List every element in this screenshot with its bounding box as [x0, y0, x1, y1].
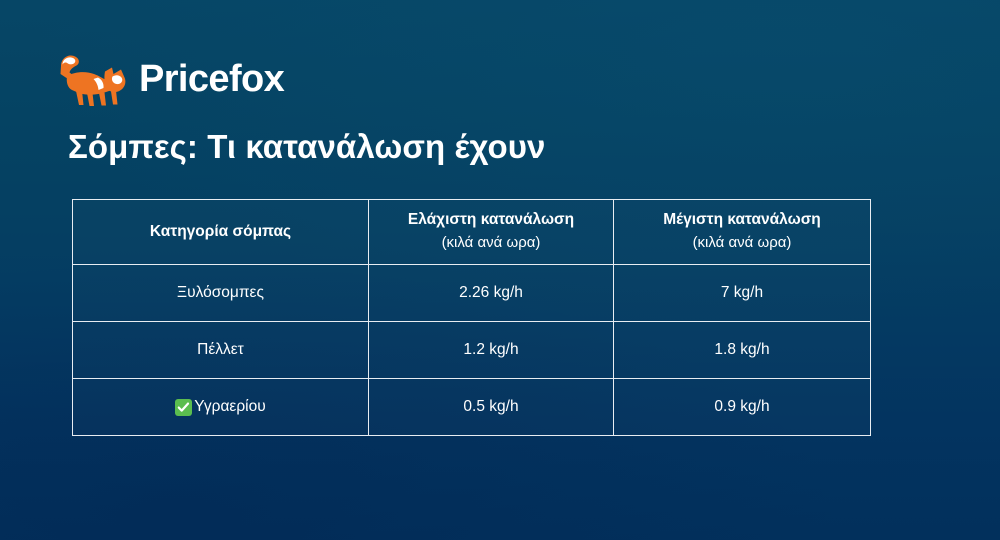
column-header-min-label: Ελάχιστη κατανάλωση	[408, 211, 574, 228]
cell-category-label: Πέλλετ	[197, 341, 244, 359]
table-row: Πέλλετ 1.2 kg/h 1.8 kg/h	[73, 322, 871, 379]
cell-max-consumption: 7 kg/h	[614, 265, 871, 322]
cell-min-consumption: 2.26 kg/h	[369, 265, 614, 322]
table-header-row: Κατηγορία σόμπας Ελάχιστη κατανάλωση (κι…	[73, 200, 871, 265]
column-header-max-label: Μέγιστη κατανάλωση	[663, 211, 821, 228]
table-row: Ξυλόσομπες 2.26 kg/h 7 kg/h	[73, 265, 871, 322]
page-title: Σόμπες: Τι κατανάλωση έχουν	[68, 128, 545, 166]
column-header-category: Κατηγορία σόμπας	[73, 200, 369, 265]
cell-max-consumption: 0.9 kg/h	[614, 379, 871, 436]
cell-min-consumption: 1.2 kg/h	[369, 322, 614, 379]
brand-wordmark: Pricefox	[139, 60, 284, 101]
cell-category-label: Ξυλόσομπες	[177, 284, 264, 302]
column-header-category-label: Κατηγορία σόμπας	[150, 223, 291, 240]
cell-category: Υγραερίου	[73, 379, 369, 436]
table-row: Υγραερίου 0.5 kg/h 0.9 kg/h	[73, 379, 871, 436]
cell-max-consumption: 1.8 kg/h	[614, 322, 871, 379]
table-body: Ξυλόσομπες 2.26 kg/h 7 kg/h Πέλλετ 1.2 k…	[73, 265, 871, 436]
column-header-min-unit: (κιλά ανά ωρα)	[377, 233, 605, 253]
consumption-table: Κατηγορία σόμπας Ελάχιστη κατανάλωση (κι…	[72, 199, 871, 436]
white-check-mark-icon	[175, 399, 192, 416]
cell-min-consumption: 0.5 kg/h	[369, 379, 614, 436]
column-header-max-unit: (κιλά ανά ωρα)	[622, 233, 862, 253]
column-header-min-consumption: Ελάχιστη κατανάλωση (κιλά ανά ωρα)	[369, 200, 614, 265]
table-header: Κατηγορία σόμπας Ελάχιστη κατανάλωση (κι…	[73, 200, 871, 265]
cell-category: Ξυλόσομπες	[73, 265, 369, 322]
cell-category: Πέλλετ	[73, 322, 369, 379]
cell-category-label: Υγραερίου	[194, 398, 265, 416]
brand-logo: Pricefox	[58, 52, 284, 108]
consumption-table-wrapper: Κατηγορία σόμπας Ελάχιστη κατανάλωση (κι…	[72, 199, 870, 436]
fox-icon	[58, 52, 130, 108]
column-header-max-consumption: Μέγιστη κατανάλωση (κιλά ανά ωρα)	[614, 200, 871, 265]
